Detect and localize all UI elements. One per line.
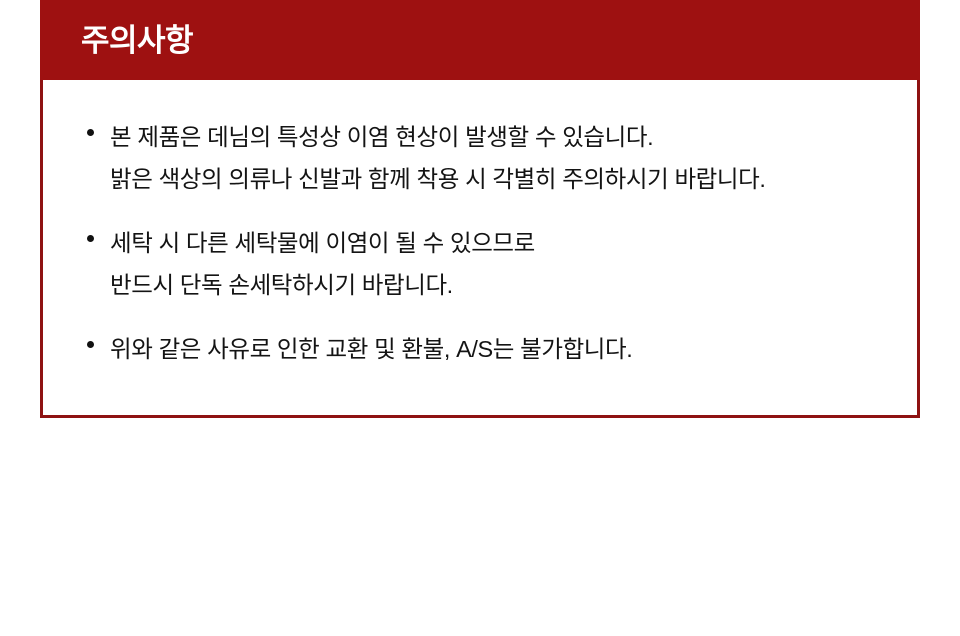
notice-line: 밝은 색상의 의류나 신발과 함께 착용 시 각별히 주의하시기 바랍니다.: [110, 158, 887, 200]
list-item: 세탁 시 다른 세탁물에 이염이 될 수 있으므로 반드시 단독 손세탁하시기 …: [83, 222, 887, 306]
notice-line: 본 제품은 데님의 특성상 이염 현상이 발생할 수 있습니다.: [110, 116, 887, 158]
notice-card: 주의사항 본 제품은 데님의 특성상 이염 현상이 발생할 수 있습니다. 밝은…: [40, 0, 920, 418]
notice-title: 주의사항: [81, 25, 193, 56]
notice-line: 위와 같은 사유로 인한 교환 및 환불, A/S는 불가합니다.: [110, 328, 887, 370]
bullet-dot-icon: [87, 129, 94, 136]
notice-line: 세탁 시 다른 세탁물에 이염이 될 수 있으므로: [110, 222, 887, 264]
notice-bullet-list: 본 제품은 데님의 특성상 이염 현상이 발생할 수 있습니다. 밝은 색상의 …: [83, 116, 887, 370]
notice-body-box: 본 제품은 데님의 특성상 이염 현상이 발생할 수 있습니다. 밝은 색상의 …: [40, 80, 920, 418]
notice-line: 반드시 단독 손세탁하시기 바랍니다.: [110, 264, 887, 306]
bullet-dot-icon: [87, 235, 94, 242]
list-item: 본 제품은 데님의 특성상 이염 현상이 발생할 수 있습니다. 밝은 색상의 …: [83, 116, 887, 200]
list-item: 위와 같은 사유로 인한 교환 및 환불, A/S는 불가합니다.: [83, 328, 887, 370]
notice-header-band: 주의사항: [40, 0, 920, 80]
bullet-dot-icon: [87, 341, 94, 348]
